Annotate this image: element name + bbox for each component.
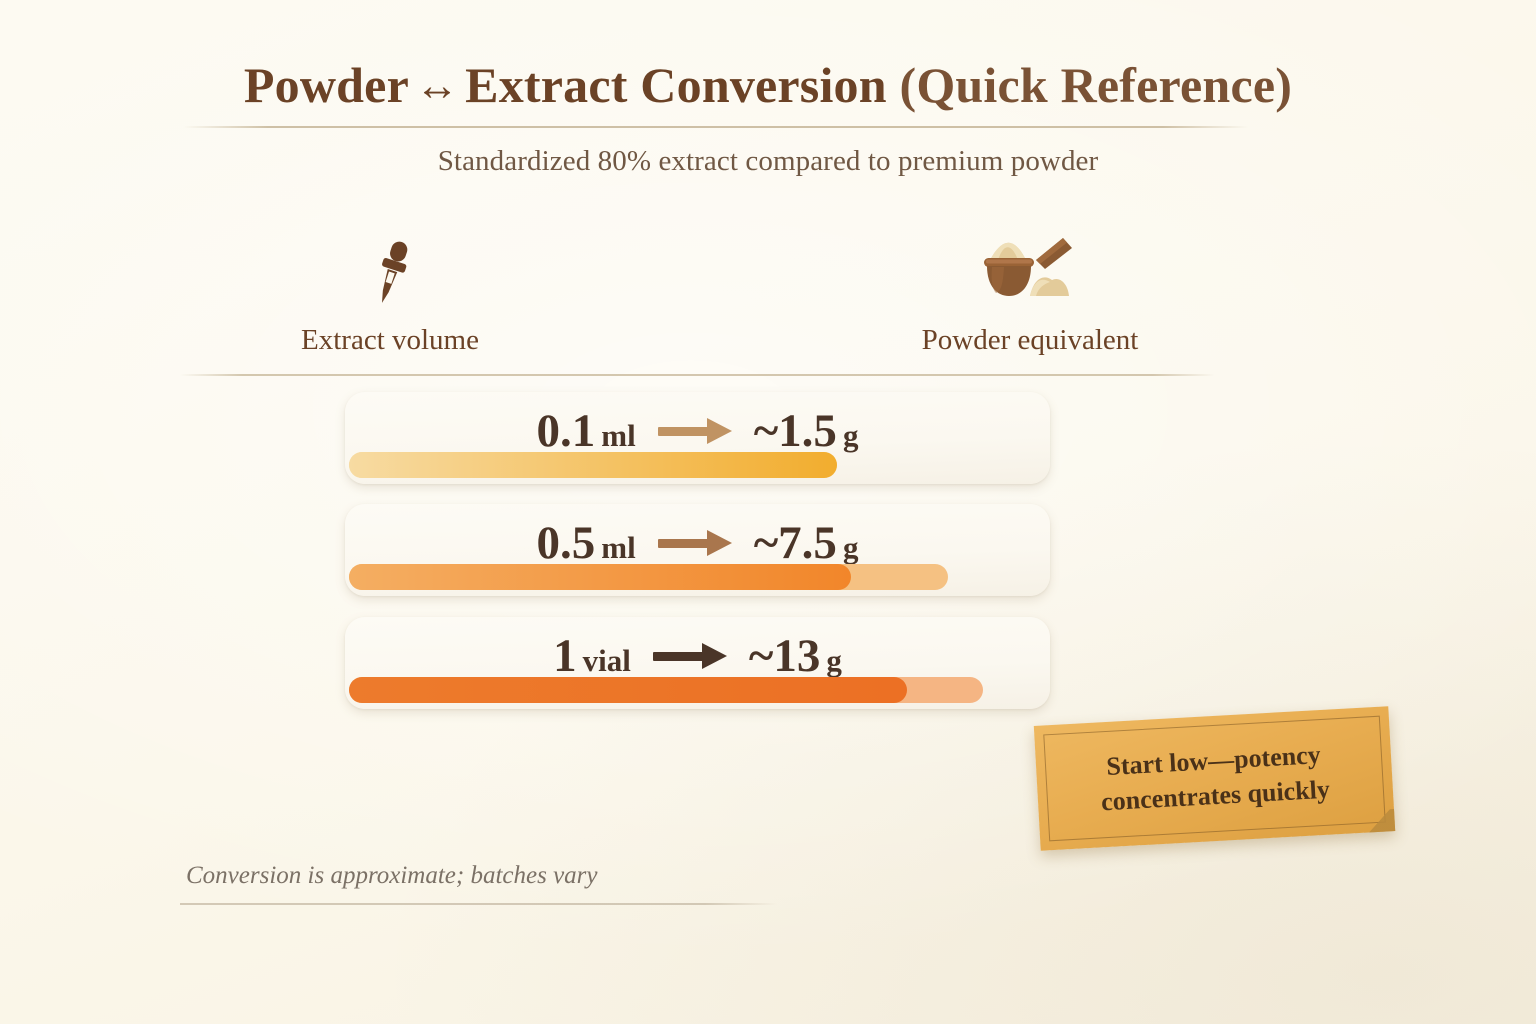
bar-fill (349, 452, 837, 478)
page-title: Powder↔Extract Conversion (Quick Referen… (0, 56, 1536, 114)
column-header-powder: Powder equivalent (870, 228, 1190, 357)
title-qualifier: (Quick Reference) (899, 57, 1292, 113)
sticky-note-fold (1368, 809, 1395, 832)
conversion-row-3-from: 1vial (553, 633, 631, 680)
bar-fill (349, 677, 907, 703)
conversion-row-3-to: ~13g (749, 633, 842, 680)
conversion-arrow-icon (658, 530, 732, 556)
conversion-arrow-icon (653, 643, 727, 669)
conversion-row-1-to: ~1.5g (754, 408, 859, 455)
conversion-row-2[interactable]: 0.5ml ~7.5g (345, 504, 1050, 596)
bar-fill (349, 564, 851, 590)
footer-divider (180, 903, 777, 905)
dropper-icon (230, 228, 550, 314)
column-label-extract: Extract volume (230, 324, 550, 357)
powder-scoop-icon (870, 228, 1190, 314)
title-word-powder: Powder (244, 57, 409, 113)
conversion-row-2-to: ~7.5g (754, 520, 859, 567)
conversion-row-3-bar (345, 677, 1050, 703)
conversion-row-1[interactable]: 0.1ml ~1.5g (345, 392, 1050, 484)
conversion-arrow-icon (658, 418, 732, 444)
conversion-row-2-bar (345, 564, 1050, 590)
title-word-extract-conversion: Extract Conversion (465, 57, 887, 113)
bidirectional-arrow-icon: ↔ (409, 61, 465, 110)
conversion-row-1-bar (345, 452, 1050, 478)
footer-disclaimer: Conversion is approximate; batches vary (186, 862, 598, 890)
page-subtitle: Standardized 80% extract compared to pre… (0, 145, 1536, 178)
infographic-stage: Powder↔Extract Conversion (Quick Referen… (0, 0, 1536, 1024)
column-label-powder: Powder equivalent (870, 324, 1190, 357)
header-divider (180, 374, 1215, 376)
conversion-row-3[interactable]: 1vial ~13g (345, 617, 1050, 709)
column-header-extract: Extract volume (230, 228, 550, 357)
sticky-note-inner: Start low—potency concentrates quickly (1043, 716, 1385, 842)
sticky-note-warning: Start low—potency concentrates quickly (1034, 706, 1395, 851)
conversion-row-1-from: 0.1ml (537, 408, 636, 455)
conversion-row-2-from: 0.5ml (537, 520, 636, 567)
title-divider (183, 126, 1248, 128)
